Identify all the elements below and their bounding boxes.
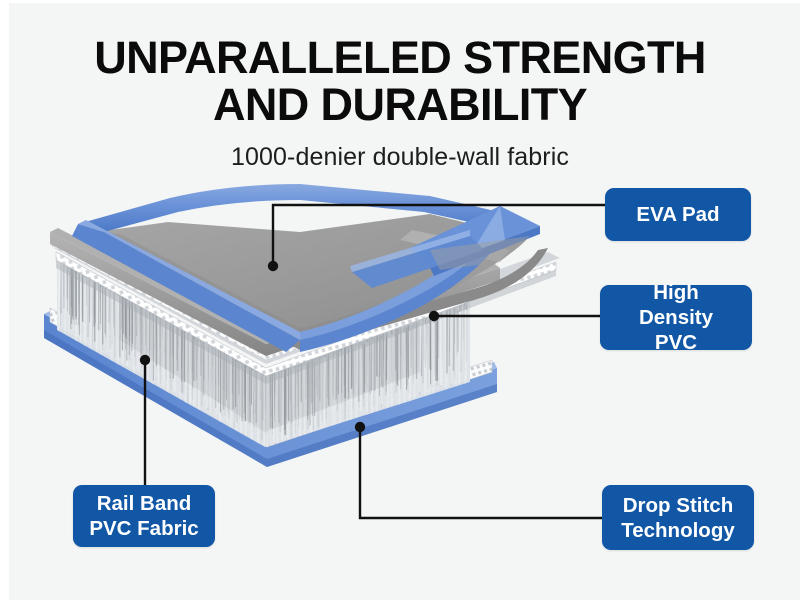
- left-edge-strip: [0, 0, 9, 600]
- leader-drop-stitch: [360, 427, 603, 518]
- page-title-line-1: UNPARALLELED STRENGTH: [0, 34, 800, 81]
- callout-badge-eva-pad[interactable]: EVA Pad: [605, 188, 751, 241]
- page-subtitle: 1000-denier double-wall fabric: [0, 143, 800, 172]
- callout-badge-rail-band-pvc-fabric[interactable]: Rail Band PVC Fabric: [73, 485, 215, 547]
- top-edge-strip: [0, 0, 800, 3]
- callout-badge-drop-stitch-technology[interactable]: Drop Stitch Technology: [602, 485, 754, 550]
- leader-eva-pad: [273, 205, 606, 266]
- leader-dot-high-density-pvc: [429, 311, 439, 321]
- leader-dot-rail-band: [140, 355, 150, 365]
- infographic-canvas: UNPARALLELED STRENGTH AND DURABILITY 100…: [0, 0, 800, 600]
- leader-dot-drop-stitch: [355, 422, 365, 432]
- callout-badge-high-density-pvc[interactable]: High Density PVC: [600, 285, 752, 350]
- page-title-line-2: AND DURABILITY: [0, 81, 800, 128]
- heading-block: UNPARALLELED STRENGTH AND DURABILITY 100…: [0, 34, 800, 172]
- leader-dot-eva-pad: [268, 261, 278, 271]
